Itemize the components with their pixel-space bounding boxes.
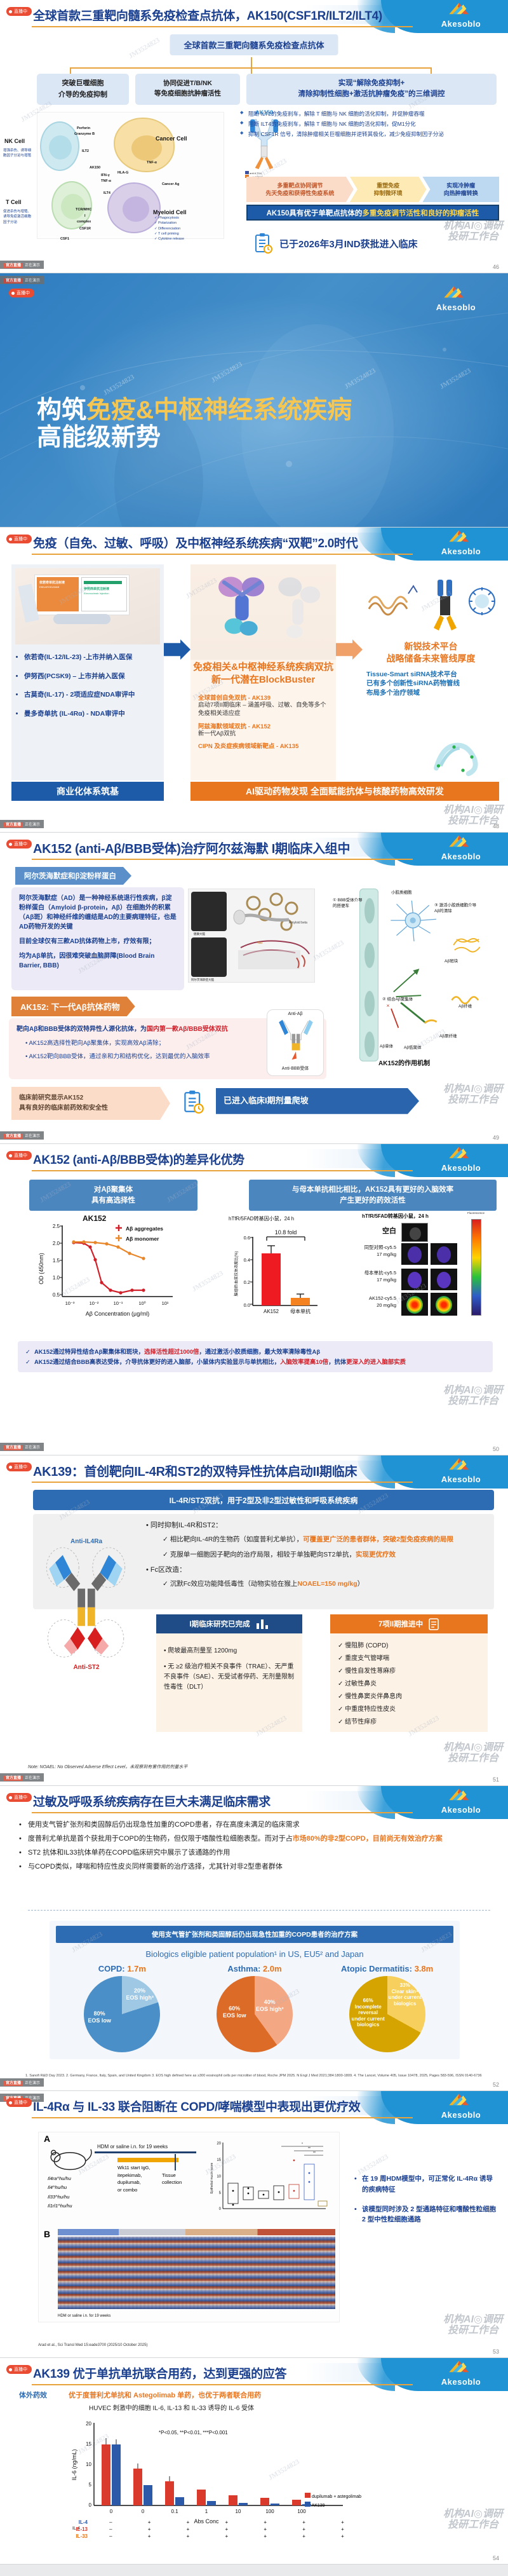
phase1-list: • 爬坡最高剂量至 1200mg • 无 ≥2 级治疗相关不良事件（TRAE）、… <box>164 1646 295 1693</box>
watermark-logo-line1: 机构AI◎调研 <box>443 221 503 232</box>
imaging-row-label: AK152-cy5.5 20 mg/kg <box>347 1295 396 1309</box>
arrow-line <box>175 2154 176 2171</box>
brand-name: Akesoblo <box>423 1475 499 1484</box>
live-badge: 直播中 <box>6 7 32 16</box>
anti-il4ra-label: Anti-IL4Ra <box>36 1538 137 1545</box>
myeloid-function-list: ✓ Phagocytosis ✓ Polarization ✓ Differen… <box>154 215 205 242</box>
mechanism-diagram: NK Cell T Cell Cancer Cell Myeloid Cell … <box>37 112 224 239</box>
broadcast-badge: 官方直播 <box>4 1776 23 1781</box>
product-label: Ebronucimab Injection <box>84 592 109 595</box>
pipeline-detail: 启动7项II期临床 – 涵盖呼吸、过敏、自免等多个免疫相关适应症 <box>198 702 330 718</box>
matrix-row-label: IL-33 <box>63 2533 91 2539</box>
svg-text:10⁰: 10⁰ <box>138 1300 145 1306</box>
figure-citation: Arad et al., Sci Transl Med 15:eade3700 … <box>38 2343 147 2347</box>
figure-label: 健康大脑 <box>194 932 205 936</box>
unmet-need-bullets: 使用支气管扩张剂和类固醇后仍出现急性加重的COPD患者，存在高度未满足的临床需求… <box>14 1819 498 1876</box>
watermark-logo-line1: 机构AI◎调研 <box>443 2315 503 2326</box>
section-tab-ak152: AK152: 下一代Aβ抗体药物 <box>11 997 135 1016</box>
connector-mid-up <box>251 57 252 67</box>
product-label: EBDAROKUMAB <box>39 585 59 589</box>
footer-banners: 商业化体系筑基 AI驱动药物发现 全面赋能抗体与核酸药物高效研发 <box>11 782 499 801</box>
list-item: ✓ 慢阻肺 (COPD) <box>338 1641 480 1651</box>
broadcast-tag: 官方直播正在演示 <box>0 276 44 284</box>
line-chart-svg: 2.52.01.5 1.00.50 10⁻³10⁻²10⁻¹ 10⁰10¹ Aβ… <box>32 1214 190 1322</box>
footer-gap <box>164 782 190 801</box>
live-dot <box>9 1796 12 1799</box>
ad-pathology-figure: 健康大脑 阿尔茨海默症大脑 Amyloid beta Tau <box>188 889 315 983</box>
svg-text:0: 0 <box>89 2502 92 2508</box>
list-item: ✓ 过敏性鼻炎 <box>338 1679 480 1689</box>
connector-right <box>431 67 432 74</box>
svg-text:OD (450nm): OD (450nm) <box>38 1253 44 1285</box>
list-item: ✓ Cytokine release <box>154 236 205 242</box>
nk-cell-shape <box>40 121 79 171</box>
slide-header: 直播中 AK152 (anti-Aβ/BBB受体)的差异化优势 Akesoblo <box>0 1144 508 1172</box>
chevron-row: 多重靶点协同调节 先天免疫和获得性免疫系统 重塑免疫 抑制微环境 实现冷肿瘤 向… <box>246 177 499 202</box>
slide-dual-target-era: 直播中 免疫（自免、过敏、呼吸）及中枢神经系统疾病“双靶”2.0时代 Akeso… <box>0 528 508 833</box>
pie-caption: Atopic Dermatitis: 3.8m <box>326 1964 449 1973</box>
live-badge: 直播中 <box>6 2098 32 2107</box>
svg-text:1.0: 1.0 <box>53 1275 60 1281</box>
pie-slice-label: 40% EOS high³ <box>256 1999 284 2013</box>
mouse-icon <box>46 2143 92 2173</box>
list-item: ST2 抗体和IL33抗体单药在COPD临床研究中展示了该通路的作用 <box>14 1847 498 1858</box>
svg-text:**: ** <box>308 2147 311 2151</box>
connector-left <box>70 67 71 74</box>
broadcast-text: 正在演示 <box>25 1776 40 1780</box>
brand-name: Akesoblo <box>418 303 494 312</box>
slide-ak139-combination: 直播中 AK139 优于单抗单抗联合用药，达到更强的应答 Akesoblo 体外… <box>0 2358 508 2565</box>
phase1-card-title: I期临床研究已完成 <box>189 1619 250 1629</box>
ak139-antibody-figure: Anti-IL4Ra Anti-ST2 <box>36 1538 137 1671</box>
pie-chart-panel: 使用支气管扩张剂和类固醇后仍出现急性加重的COPD患者的治疗方案 Biologi… <box>50 1921 460 2059</box>
svg-text:0.1: 0.1 <box>171 2509 178 2514</box>
list-item: 阻断 ILT4的免疫刹车，解除 T 细胞与 NK 细胞的活化抑制，促M1分化 <box>240 119 499 129</box>
slide-cover-immunology: 直播中 Akesoblo 构筑免疫&中枢神经系统疾病 高能级新势 JM35248… <box>0 273 508 528</box>
list-item: 与COPD类似，哮喘和特应性皮炎同样需要新的治疗选择，尤其针对非2型患者群体 <box>14 1861 498 1872</box>
clipboard-icon <box>183 1089 204 1115</box>
pie-chart-asthma: Asthma: 2.0m 40% EOS high³ 60% EOS low <box>193 1964 316 2052</box>
il6-bar-chart: 20151050 IL-6 (ng/mL) <box>63 2416 368 2544</box>
live-dot <box>11 292 15 295</box>
cover-title-seg-a: 构筑 <box>37 397 86 424</box>
live-badge: 直播中 <box>6 2365 32 2374</box>
pipeline-heading: CIPN 及炎症疾病领域新靶点 - AK135 <box>198 741 330 750</box>
live-label: 直播中 <box>14 2099 27 2106</box>
akeso-mark-icon <box>443 529 479 543</box>
pie-slice-label: 80% EOS low <box>88 2010 111 2024</box>
broadcast-text: 正在演示 <box>25 264 40 268</box>
slide-ak150: 直播中 全球首款三重靶向髓系免疫检查点抗体，AK150(CSF1R/ILT2/I… <box>0 0 508 273</box>
hlag-label: HLA-G <box>117 171 128 175</box>
list-item: 度普利尤单抗是首个获批用于COPD的生物药，但仅限于嗜酸性粒细胞表型。而对于占市… <box>14 1833 498 1844</box>
bispecific-column: 免疫相关&中枢神经系统疾病双抗 新一代潜在BlockBuster 全球首创自免双… <box>190 564 336 780</box>
akeso-mark-icon <box>443 1457 479 1471</box>
live-label: 直播中 <box>14 841 27 847</box>
clipboard-plus-icon <box>428 1618 439 1630</box>
myeloid-cell-label: Myeloid Cell <box>153 209 187 215</box>
broadcast-text: 正在演示 <box>25 279 40 283</box>
legend-item: dupilumab + astegolimab <box>305 2493 361 2502</box>
list-item: 阻断 ILT2的免疫刹车，解除 T 细胞与 NK 细胞的活化抑制，并促肿瘤吞噬 <box>240 109 499 119</box>
page-title: AK139 优于单抗单抗联合用药，达到更强的应答 <box>33 2362 389 2383</box>
cancer-ag-label: Cancer Ag <box>162 182 179 186</box>
genotype: Il1rl1^hu/hu <box>48 2202 72 2211</box>
title-rule <box>32 2117 413 2118</box>
platform-column: 新锐技术平台 战略储备未来管线厚度 Tissue-Smart siRNA技术平台… <box>363 564 499 780</box>
t-cell-label: T Cell <box>6 199 22 205</box>
phase2-card-body: ✓ 慢阻肺 (COPD) ✓ 重度支气管哮喘 ✓ 慢性自发性荨麻疹 ✓ 过敏性鼻… <box>330 1633 488 1732</box>
watermark-logo: 机构AI◎调研 投研工作台 <box>443 2509 503 2531</box>
neuron-figure: Amyloid beta Tau <box>228 889 314 983</box>
phase2-card-header: 7项II期推进中 <box>330 1614 488 1633</box>
live-dot <box>9 1466 12 1469</box>
page-title: IL-4Rα 与 IL-33 联合阻断在 COPD/哮喘模型中表现出更优疗效 <box>33 2095 389 2116</box>
slide-ak152-phase1: 直播中 AK152 (anti-Aβ/BBB受体)治疗阿尔兹海默 I期临床入组中… <box>0 833 508 1144</box>
list-item: 抑制 CSF1R 信号，清除肿瘤相关巨噬细胞并逆转其极化，减少免疫抑制因子分泌 <box>240 130 499 139</box>
list-item: ✓ 慢性鼻窦炎伴鼻息肉 <box>338 1692 480 1702</box>
slide-unmet-need: 直播中 过敏及呼吸系统疾病存在巨大未满足临床需求 Akesoblo 使用支气管扩… <box>0 1786 508 2091</box>
benefit-boxes: 突破巨噬细胞 介导的免疫抑制 协同促进T/B/NK 等免疫细胞抗肿瘤活性 实现“… <box>37 74 497 105</box>
brand-logo: Akesoblo <box>423 1 499 29</box>
live-badge: 直播中 <box>6 840 32 848</box>
brand-name: Akesoblo <box>423 2110 499 2120</box>
benefit-box: 实现“解除免疫抑制+ 清除抑制性细胞+激活抗肿瘤免疫”的三维调控 <box>246 74 497 105</box>
heatmap-caption: HDM or saline i.n. for 19 weeks <box>58 2314 110 2318</box>
watermark-logo-line1: 机构AI◎调研 <box>443 1084 503 1095</box>
svg-text:20: 20 <box>217 2142 221 2146</box>
pie-slice-label: 60% EOS low <box>223 2005 246 2019</box>
list-item: ✓ 慢性自发性荨麻疹 <box>338 1666 480 1677</box>
brand-name: Akesoblo <box>423 547 499 556</box>
matrix-row-label: IL-13 <box>63 2526 91 2532</box>
cover-title-line1: 构筑免疫&中枢神经系统疾病 <box>37 397 352 425</box>
imaging-cell <box>431 1269 457 1290</box>
svg-text:Aβ aggregates: Aβ aggregates <box>126 1225 163 1232</box>
svg-text:100: 100 <box>265 2509 274 2514</box>
akeso-mark-icon <box>443 1 479 15</box>
svg-text:0.4: 0.4 <box>244 1257 250 1263</box>
svg-text:×: × <box>387 1002 390 1009</box>
list-item: ✓ 重度支气管哮喘 <box>338 1654 480 1664</box>
title-rule <box>32 2384 413 2385</box>
watermark: JM3524823 <box>191 1269 225 1293</box>
broadcast-tag: 官方直播正在演示 <box>0 261 44 269</box>
akeso-mark-icon <box>443 1787 479 1801</box>
page-title: AK152 (anti-Aβ/BBB受体)的差异化优势 <box>33 1148 389 1169</box>
note-line: AK152通过结合BBB高表达受体，介导抗体更好的进入脑部，小鼠体内实验显示与单… <box>25 1357 485 1367</box>
imaging-cell <box>401 1293 428 1316</box>
svg-text:10¹: 10¹ <box>162 1300 169 1306</box>
svg-text:0.0: 0.0 <box>244 1302 250 1308</box>
section-divider <box>28 1910 490 1911</box>
pie-caption: COPD: 1.7m <box>60 1964 184 1973</box>
clipboard-icon <box>254 233 273 254</box>
live-dot <box>9 843 12 846</box>
product-label: 伊努西单抗注射液 <box>84 587 109 591</box>
live-label: 直播中 <box>14 536 27 542</box>
cover-title-seg-b: 免疫&中枢神经系统疾病 <box>86 397 352 424</box>
brain-uptake-bar-chart: hTfR/5FAD转基因小鼠，24 h 0.60.40.20.0 <box>229 1215 330 1330</box>
page-number: 46 <box>493 264 499 270</box>
slide-ak152-differentiation: 直播中 AK152 (anti-Aβ/BBB受体)的差异化优势 Akesoblo… <box>0 1144 508 1455</box>
brand-name: Akesoblo <box>423 852 499 861</box>
protocol-text: HDM or saline i.n. for 19 weeks <box>97 2144 168 2150</box>
ifng-label: IFN-γ <box>101 174 110 177</box>
bullet-heading: • Fc区改造： <box>146 1565 486 1576</box>
svg-text:5: 5 <box>89 2482 92 2488</box>
heatmap: HDM or saline i.n. for 19 weeks <box>58 2229 335 2318</box>
scale-label: Fluorescence <box>467 1211 485 1215</box>
platform-icon-set <box>363 564 499 641</box>
page-title: 过敏及呼吸系统疾病存在巨大未满足临床需求 <box>33 1790 389 1811</box>
treatment-text: Wk11 start IgG, itepekimab, dupilumab, o… <box>117 2164 157 2194</box>
chevron-step: 重塑免疫 抑制微环境 <box>350 177 427 202</box>
live-dot <box>9 10 12 13</box>
abeta-oligomer-label: Aβ低聚体 <box>404 1044 422 1050</box>
watermark-logo: 机构AI◎调研 投研工作台 <box>443 1386 503 1407</box>
live-dot <box>9 2101 12 2104</box>
watermark-logo-line2: 投研工作台 <box>443 1095 503 1106</box>
matrix-row: –++++++ <box>91 2533 362 2539</box>
page-number: 49 <box>493 1135 499 1141</box>
list-item: ✓ Phagocytosis <box>154 215 205 221</box>
collection-text: Tissue collection <box>162 2172 190 2186</box>
title-rule <box>32 1812 413 1813</box>
legend-item: AK139 <box>305 2502 361 2511</box>
chart-legend: dupilumab + astegolimab AK139 <box>305 2493 361 2510</box>
pie-slice-label: 33% Clear skin⁴ under current biologics <box>389 1982 422 2007</box>
chevron-step: 多重靶点协同调节 先天免疫和获得性免疫系统 <box>246 177 354 202</box>
brand-logo: Akesoblo <box>423 2092 499 2120</box>
ak152-lead-pre: 靶向Aβ和BBB受体的双特异性人源化抗体，为 <box>17 1026 147 1033</box>
pie-panel-title: 使用支气管扩张剂和类固醇后仍出现急性加重的COPD患者的治疗方案 <box>56 1926 453 1943</box>
imaging-cell <box>431 1293 457 1316</box>
ak150-diagram-label: AK150 <box>90 166 100 170</box>
live-dot <box>9 2368 12 2371</box>
live-label: 直播中 <box>14 1794 27 1801</box>
platform-icons <box>363 564 499 641</box>
svg-text:20: 20 <box>86 2421 91 2427</box>
svg-text:0.2: 0.2 <box>244 1279 250 1285</box>
akeso-mark-icon <box>443 2359 479 2373</box>
selectivity-line-chart: AK152 2.52.01.5 1.00.50 10⁻³10⁻²10⁻¹ 10⁰… <box>32 1214 190 1328</box>
granzyme-label: Granzyme B <box>74 132 95 136</box>
broadcast-text: 正在演示 <box>25 1446 40 1450</box>
watermark-logo-line1: 机构AI◎调研 <box>443 1743 503 1754</box>
live-label: 直播中 <box>14 2366 27 2373</box>
bispecific-title: 免疫相关&中枢神经系统疾病双抗 新一代潜在BlockBuster <box>190 661 336 686</box>
watermark-logo-line1: 机构AI◎调研 <box>443 2509 503 2520</box>
list-item: ✓ 中重度特应性皮炎 <box>338 1705 480 1715</box>
broadcast-tag: 官方直播正在演示 <box>0 1443 44 1451</box>
list-item: 依若奇(IL-12/IL-23) -上市并纳入医保 <box>24 653 156 662</box>
imaging-cell <box>401 1243 428 1265</box>
svg-text:1.5: 1.5 <box>53 1258 60 1264</box>
tcr-mhc-label: TCR/MHC <box>76 208 91 212</box>
svg-text:2.0: 2.0 <box>53 1241 60 1246</box>
brand-logo: Akesoblo <box>418 285 494 312</box>
box-plot-chart: 20151050 Epithelial mucin score ***** <box>205 2137 332 2224</box>
page-number: 52 <box>493 2082 499 2088</box>
slide-header: 直播中 过敏及呼吸系统疾病存在巨大未满足临床需求 Akesoblo <box>0 1786 508 1814</box>
svg-text:*: * <box>302 2143 303 2146</box>
watermark-logo: 机构AI◎调研 投研工作台 <box>443 2315 503 2336</box>
brain-imaging-panel: hTfR/5FAD转基因小鼠，24 h 空白 同型对照-cy5.5 17 mg/… <box>347 1215 505 1333</box>
slide-header: 直播中 AK139：首创靶向IL-4R和ST2的双特异性抗体启动II期临床 Ak… <box>0 1455 508 1483</box>
watermark-logo-line2: 投研工作台 <box>443 232 503 243</box>
genotype: Il4ra^hu/hu <box>48 2174 72 2183</box>
ak152-lead-hl: 国内第一款Aβ/BBB受体双抗 <box>147 1026 228 1033</box>
abeta-monomer-label: Aβ单体 <box>380 1042 393 1049</box>
page-title: AK139：首创靶向IL-4R和ST2的双特异性抗体启动II期临床 <box>33 1459 389 1481</box>
moa-caption: AK152的作用机制 <box>378 1058 430 1067</box>
svg-text:**: ** <box>313 2151 316 2155</box>
footer-commercial: 商业化体系筑基 <box>11 782 164 801</box>
brand-logo: Akesoblo <box>423 1145 499 1173</box>
broadcast-badge: 官方直播 <box>4 1445 23 1450</box>
live-badge: 直播中 <box>6 535 32 543</box>
assay-description: HUVEC 刺激中的细胞 IL-6, IL-13 和 IL-33 诱导的 IL-… <box>89 2402 254 2412</box>
bar-chart-header: hTfR/5FAD转基因小鼠，24 h <box>229 1215 294 1222</box>
moa-step-1: ① BBB受体介导 的搭便车 <box>333 897 375 909</box>
cover-title-line2: 高能级新势 <box>37 424 352 452</box>
sub-bullet: ✓ 沉默Fc效应功能降低毒性（动物实验在猴上NOAEL=150 mg/kg） <box>146 1579 486 1589</box>
ak139-banner: IL-4R/ST2双抗，用于2型及非2型过敏性和呼吸系统疾病 <box>33 1490 494 1510</box>
pipeline-heading: 全球首创自免双抗 - AK139 <box>198 693 330 702</box>
nk-cell-note: 增强杀伤、诱导细 胞因子分泌与增殖 <box>3 148 36 159</box>
svg-text:IL-6 (ng/mL): IL-6 (ng/mL) <box>71 2449 77 2480</box>
svg-text:Tau: Tau <box>257 941 262 945</box>
genotype: Il4^hu/hu <box>48 2183 72 2192</box>
page-number: 53 <box>493 2348 499 2355</box>
presentation-deck: 直播中 全球首款三重靶向髓系免疫检查点抗体，AK150(CSF1R/ILT2/I… <box>0 0 508 2565</box>
bispecific-antibody-icon <box>267 1016 324 1062</box>
commercial-column: 依若奇单抗注射液 EBDAROKUMAB 伊努西单抗注射液 Ebronucima… <box>11 564 164 780</box>
mechanism-bullets: 阻断 ILT2的免疫刹车，解除 T 细胞与 NK 细胞的活化抑制，并促肿瘤吞噬 … <box>240 109 499 140</box>
akeso-mark-icon <box>443 2092 479 2106</box>
live-dot <box>9 538 12 541</box>
phase1-card-header: I期临床研究已完成 <box>156 1614 302 1633</box>
svg-text:AK152: AK152 <box>264 1309 279 1314</box>
pie-panel-subtitle: Biologics eligible patient population¹ i… <box>56 1949 453 1959</box>
complex-label: complex <box>77 220 91 224</box>
perforin-label: Perforin <box>77 126 90 130</box>
note-line: AK152通过特异性结合Aβ聚集体和斑块，选择活性超过1000倍，通过激活小胶质… <box>25 1347 485 1357</box>
benefit-box: 协同促进T/B/NK 等免疫细胞抗肿瘤活性 <box>135 74 240 105</box>
section-tab-ad: 阿尔茨海默症和β淀粉样蛋白 <box>15 867 131 885</box>
slide-header: 直播中 AK139 优于单抗单抗联合用药，达到更强的应答 Akesoblo <box>0 2358 508 2386</box>
broadcast-badge: 官方直播 <box>4 278 23 283</box>
page-title: AK152 (anti-Aβ/BBB受体)治疗阿尔兹海默 I期临床入组中 <box>33 836 389 858</box>
chart-title: AK152 <box>83 1214 106 1223</box>
phase2-card-title: 7项II期推进中 <box>378 1619 423 1629</box>
svg-text:Aβ Concentration (µg/ml): Aβ Concentration (µg/ml) <box>86 1311 149 1317</box>
list-item: 古莫奇(IL-17) - 2项适应症NDA审评中 <box>24 691 156 700</box>
svg-text:10: 10 <box>236 2509 241 2514</box>
broadcast-tag: 官方直播正在演示 <box>0 2078 44 2087</box>
csf1-label: CSF1 <box>60 237 69 241</box>
in-vitro-label: 体外药效 <box>19 2390 47 2400</box>
pie-columns: COPD: 1.7m 20% EOS high³ 80% EOS low Ast… <box>56 1964 453 2052</box>
broadcast-badge: 官方直播 <box>4 263 23 268</box>
bbb-barrier <box>359 889 378 1061</box>
live-badge: 直播中 <box>9 289 34 297</box>
conclusions-panel: 在 19 周HDM模型中，可正常化 IL-4Rα 诱导的疾病特征 该模型同时涉及… <box>353 2174 499 2234</box>
brand-name: Akesoblo <box>423 1163 499 1173</box>
svg-text:10⁻²: 10⁻² <box>90 1300 99 1306</box>
pie-shape: 40% EOS high³ 60% EOS low <box>217 1976 293 2052</box>
platform-text: Tissue-Smart siRNA技术平台 已有多个创新性siRNA药物管线 … <box>363 665 499 698</box>
anti-abeta-label: Anti-Aβ <box>267 1012 323 1016</box>
svg-text:Epithelial mucin score: Epithelial mucin score <box>210 2162 214 2193</box>
phase2-card: 7项II期推进中 ✓ 慢阻肺 (COPD) ✓ 重度支气管哮喘 ✓ 慢性自发性荨… <box>330 1614 488 1732</box>
svg-text:母本单抗: 母本单抗 <box>290 1308 311 1314</box>
timeline-bar <box>95 2151 196 2153</box>
phase1-card-body: • 爬坡最高剂量至 1200mg • 无 ≥2 级治疗相关不良事件（TRAE）、… <box>156 1633 302 1732</box>
slide-header: 直播中 免疫（自免、过敏、呼吸）及中枢神经系统疾病“双靶”2.0时代 Akeso… <box>0 528 508 555</box>
page-number: 48 <box>493 823 499 829</box>
svg-text:5: 5 <box>219 2191 222 2195</box>
ad-para-2: 目前全球仅有三款AD抗体药物上市，疗效有限； <box>19 937 177 946</box>
page-number: 54 <box>493 2555 499 2561</box>
ind-status-text: 已于2026年3月IND获批进入临床 <box>279 237 418 250</box>
caption-selectivity: 对Aβ聚集体 具有高选择性 <box>29 1180 197 1211</box>
cancer-cell-label: Cancer Cell <box>156 135 187 142</box>
slide-header: 直播中 AK152 (anti-Aβ/BBB受体)治疗阿尔兹海默 I期临床入组中… <box>0 833 508 861</box>
connector-lines <box>70 57 432 74</box>
cancer-cell-shape <box>114 118 175 172</box>
pipeline-detail: 新一代Aβ双抗 <box>198 730 330 739</box>
slide-ak139-phase2: 直播中 AK139：首创靶向IL-4R和ST2的双特异性抗体启动II期临床 Ak… <box>0 1455 508 1786</box>
svg-text:Aβ monomer: Aβ monomer <box>126 1236 159 1242</box>
svg-text:1: 1 <box>205 2509 208 2514</box>
imaging-cell <box>401 1223 428 1242</box>
source-note: 1. Sanofi R&D Day 2023. 2. Germany, Fran… <box>25 2073 489 2079</box>
title-rule <box>32 26 413 27</box>
antibody-render <box>190 564 336 660</box>
tnfa2-label: TNF-α <box>147 161 157 165</box>
list-item: 在 19 周HDM模型中，可正常化 IL-4Rα 诱导的疾病特征 <box>353 2174 499 2195</box>
summary-highlight: 多重免疫调节活性和良好的抑瘤活性 <box>362 208 479 218</box>
sirna-structure-icon <box>420 735 497 779</box>
connector-mid-down <box>251 67 252 74</box>
mhc-i-label: I <box>84 214 86 218</box>
svg-text:10: 10 <box>217 2175 221 2179</box>
matrix-row: –++++++ <box>91 2526 362 2532</box>
brand-name: Akesoblo <box>423 1805 499 1815</box>
akeso-mark-icon <box>443 834 479 848</box>
watermark-logo-line2: 投研工作台 <box>443 2326 503 2336</box>
title-rule <box>32 1170 413 1171</box>
live-label: 直播中 <box>14 1464 27 1470</box>
anti-bbb-label: Anti-BBB受体 <box>267 1065 323 1072</box>
svg-text:0.6: 0.6 <box>244 1235 250 1241</box>
imaging-row-label: 空白 <box>347 1225 396 1236</box>
brand-name: Akesoblo <box>423 19 499 29</box>
live-dot <box>9 1154 12 1157</box>
footer-ai: AI驱动药物发现 全面赋能抗体与核酸药物高效研发 <box>190 782 499 801</box>
watermark-logo-line2: 投研工作台 <box>443 1754 503 1764</box>
svg-text:0: 0 <box>219 2207 222 2211</box>
benefit-box: 突破巨噬细胞 介导的免疫抑制 <box>37 74 129 105</box>
broadcast-tag: 官方直播正在演示 <box>0 820 44 828</box>
broadcast-tag: 官方直播正在演示 <box>0 1773 44 1782</box>
live-label: 直播中 <box>14 8 27 15</box>
broadcast-badge: 官方直播 <box>4 1134 23 1139</box>
list-item: ✓ Differenciation <box>154 226 205 231</box>
akeso-mark-icon <box>443 1145 479 1159</box>
